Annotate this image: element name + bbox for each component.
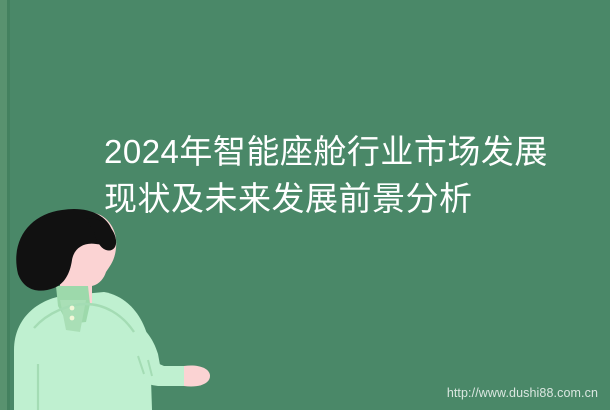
title-line-2: 现状及未来发展前景分析 xyxy=(104,175,554,222)
page-title: 2024年智能座舱行业市场发展 现状及未来发展前景分析 xyxy=(104,128,554,222)
hand-shape xyxy=(184,365,210,386)
article-banner: 2024年智能座舱行业市场发展 现状及未来发展前景分析 http://www.d… xyxy=(0,0,610,410)
watermark-url: http://www.dushi88.com.cn xyxy=(447,386,598,400)
person-illustration xyxy=(0,200,230,410)
title-line-1: 2024年智能座舱行业市场发展 xyxy=(104,128,554,175)
